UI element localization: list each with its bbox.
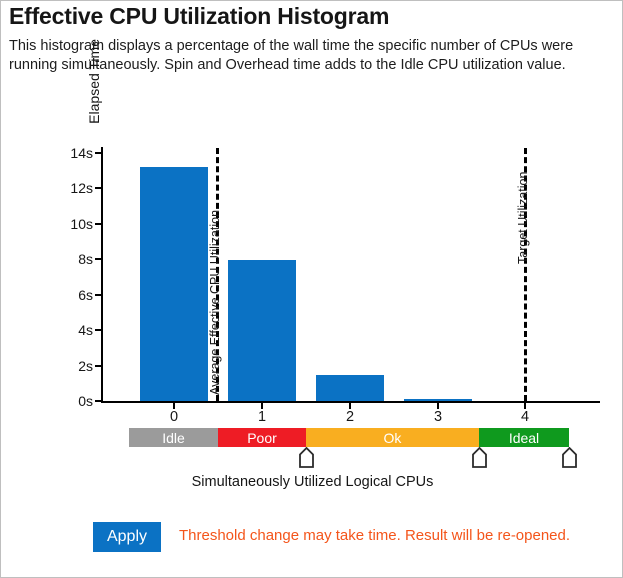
threshold-handle-ok[interactable] xyxy=(472,447,487,468)
y-tick-label-0s: 0s xyxy=(53,393,93,409)
target-utilization-label: Target Utilization xyxy=(516,172,530,264)
x-axis-title: Simultaneously Utilized Logical CPUs xyxy=(1,474,623,490)
threshold-handle-poor[interactable] xyxy=(299,447,314,468)
y-tick-label-8s: 8s xyxy=(53,251,93,267)
y-tick-mark-10s xyxy=(95,223,101,225)
y-tick-mark-14s xyxy=(95,152,101,154)
x-tick-mark-4 xyxy=(524,401,526,409)
x-tick-mark-3 xyxy=(437,401,439,409)
x-tick-mark-0 xyxy=(173,401,175,409)
bar-0[interactable] xyxy=(140,167,208,401)
threshold-segment-ideal[interactable]: Ideal xyxy=(479,428,569,447)
x-tick-label-0: 0 xyxy=(170,409,178,425)
apply-button[interactable]: Apply xyxy=(93,522,161,552)
x-tick-label-1: 1 xyxy=(258,409,266,425)
x-tick-label-4: 4 xyxy=(521,409,529,425)
y-tick-label-14s: 14s xyxy=(53,145,93,161)
y-axis-title: Elapsed Time xyxy=(86,39,102,149)
y-tick-mark-8s xyxy=(95,258,101,260)
y-tick-mark-6s xyxy=(95,294,101,296)
threshold-bar[interactable]: Idle Poor Ok Ideal xyxy=(129,428,569,447)
effective-cpu-utilization-panel: Effective CPU Utilization Histogram This… xyxy=(0,0,623,578)
threshold-handle-ideal[interactable] xyxy=(562,447,577,468)
y-tick-label-12s: 12s xyxy=(53,180,93,196)
histogram-chart: Elapsed Time 14s 12s 10s 8s 6s 4s 2s 0s … xyxy=(1,1,623,578)
threshold-warning-text: Threshold change may take time. Result w… xyxy=(179,525,579,546)
x-tick-mark-2 xyxy=(349,401,351,409)
y-tick-label-10s: 10s xyxy=(53,216,93,232)
x-tick-mark-1 xyxy=(261,401,263,409)
y-axis-title-text: Elapsed Time xyxy=(86,39,102,124)
y-tick-label-4s: 4s xyxy=(53,322,93,338)
threshold-segment-ok[interactable]: Ok xyxy=(306,428,479,447)
y-tick-mark-2s xyxy=(95,365,101,367)
threshold-segment-poor[interactable]: Poor xyxy=(218,428,306,447)
bar-1[interactable] xyxy=(228,260,296,401)
y-tick-label-6s: 6s xyxy=(53,287,93,303)
threshold-segment-idle[interactable]: Idle xyxy=(129,428,218,447)
x-tick-label-3: 3 xyxy=(434,409,442,425)
y-axis-line xyxy=(101,147,103,403)
y-tick-label-2s: 2s xyxy=(53,358,93,374)
y-tick-mark-12s xyxy=(95,187,101,189)
x-tick-label-2: 2 xyxy=(346,409,354,425)
bar-2[interactable] xyxy=(316,375,384,401)
average-effective-cpu-utilization-label: Average Effective CPU Utilization xyxy=(208,210,222,395)
y-tick-mark-4s xyxy=(95,329,101,331)
